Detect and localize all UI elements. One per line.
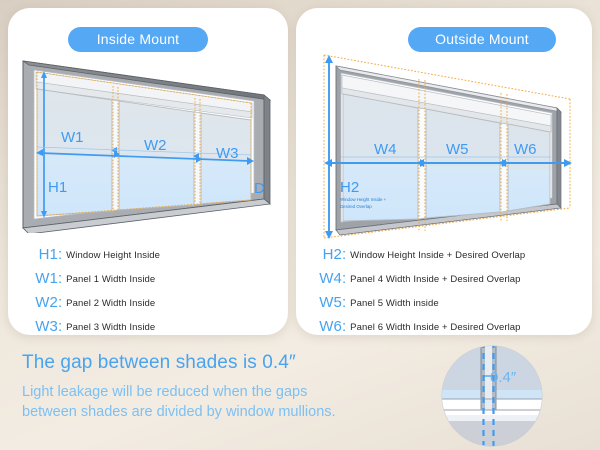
label-h2-sub-line1: Window Height Inside + [340, 197, 387, 202]
gap-sub-line2: between shades are divided by window mul… [22, 402, 422, 422]
inside-mount-diagram: W1 W2 W3 H1 D [18, 48, 280, 233]
label-w4: W4 [374, 141, 397, 158]
legend-item: W6: Panel 6 Width Inside + Desired Overl… [314, 318, 586, 335]
legend-item: W4: Panel 4 Width Inside + Desired Overl… [314, 270, 586, 287]
label-h2-sub-line2: Desired Overlap [340, 204, 372, 209]
outside-mount-legend: H2: Window Height Inside + Desired Overl… [314, 246, 586, 342]
legend-text: Panel 3 Width Inside [66, 322, 155, 333]
legend-text: Window Height Inside [66, 250, 160, 261]
legend-code: H1 [32, 246, 58, 263]
legend-text: Window Height Inside + Desired Overlap [350, 250, 525, 261]
legend-code: W2 [32, 294, 58, 311]
legend-colon: : [58, 318, 62, 335]
label-h1: H1 [48, 179, 67, 196]
legend-colon: : [58, 246, 62, 263]
legend-item: H2: Window Height Inside + Desired Overl… [314, 246, 586, 263]
legend-colon: : [342, 294, 346, 311]
legend-code: W4 [314, 270, 342, 287]
legend-text: Panel 1 Width Inside [66, 274, 155, 285]
label-w3: W3 [216, 145, 239, 162]
legend-colon: : [342, 270, 346, 287]
legend-text: Panel 2 Width Inside [66, 298, 155, 309]
legend-colon: : [58, 270, 62, 287]
label-w6: W6 [514, 141, 537, 158]
legend-colon: : [342, 318, 346, 335]
legend-item: W5: Panel 5 Width inside [314, 294, 586, 311]
label-w2: W2 [144, 137, 167, 154]
label-w5: W5 [446, 141, 469, 158]
outside-mount-card: Outside Mount [296, 8, 592, 335]
gap-headline: The gap between shades is 0.4″ [22, 352, 422, 374]
label-h2: H2 [340, 179, 359, 196]
legend-text: Panel 5 Width inside [350, 298, 439, 309]
legend-code: W1 [32, 270, 58, 287]
legend-colon: : [342, 246, 346, 263]
legend-item: W3: Panel 3 Width Inside [32, 318, 282, 335]
legend-item: W1: Panel 1 Width Inside [32, 270, 282, 287]
legend-colon: : [58, 294, 62, 311]
gap-detail-bubble: 0.4″ [438, 342, 546, 450]
label-w1: W1 [61, 129, 84, 146]
gap-detail-label: 0.4″ [490, 369, 517, 386]
gap-sub-line1: Light leakage will be reduced when the g… [22, 382, 422, 402]
legend-text: Panel 6 Width Inside + Desired Overlap [350, 322, 520, 333]
legend-code: H2 [314, 246, 342, 263]
label-d: D [254, 180, 265, 197]
outside-mount-diagram: W4 W5 W6 H2 Window Height Inside + Desir… [304, 46, 584, 244]
inside-mount-card: Inside Mount [8, 8, 288, 335]
legend-text: Panel 4 Width Inside + Desired Overlap [350, 274, 520, 285]
legend-code: W6 [314, 318, 342, 335]
legend-code: W5 [314, 294, 342, 311]
bottom-copy-block: The gap between shades is 0.4″ Light lea… [22, 352, 422, 422]
legend-item: W2: Panel 2 Width Inside [32, 294, 282, 311]
legend-item: H1: Window Height Inside [32, 246, 282, 263]
infographic-stage: Inside Mount [0, 0, 600, 450]
legend-code: W3 [32, 318, 58, 335]
inside-mount-legend: H1: Window Height Inside W1: Panel 1 Wid… [32, 246, 282, 342]
